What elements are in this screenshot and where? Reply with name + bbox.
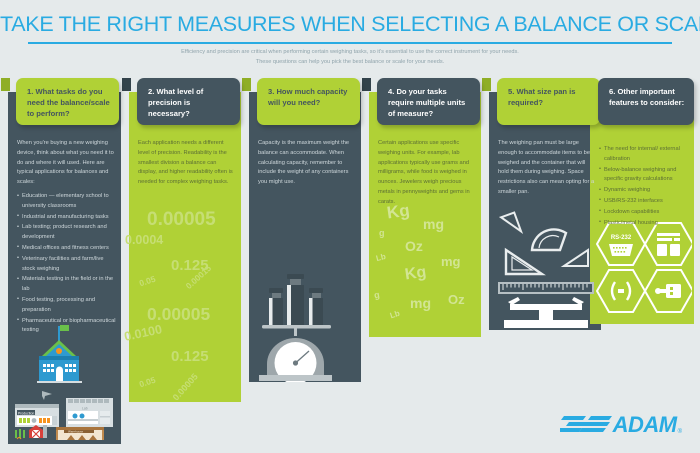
column-3-paragraph: Capacity is the maximum weight the balan… (258, 139, 356, 188)
column-3: 3. How much capacity will you need? Capa… (249, 92, 361, 382)
column-3-question: 3. How much capacity will you need? (268, 87, 351, 109)
column-3-illustration (257, 272, 355, 382)
list-item: Plastic/metal housing (599, 219, 691, 229)
header: TAKE THE RIGHT MEASURES WHEN SELECTING A… (0, 0, 700, 76)
watermark-unit: mg (423, 216, 444, 232)
column-4-question-card[interactable]: 4. Do your tasks require multiple units … (377, 78, 480, 125)
list-item: Education — elementary school to univers… (17, 192, 118, 212)
list-item: Medical offices and fitness centers (17, 244, 118, 254)
balance-pan-icon (504, 297, 588, 328)
column-5-card-tab (482, 78, 491, 91)
watermark-unit: g (379, 228, 385, 238)
column-5-illustration (494, 210, 598, 328)
buildings-illustration: Production Lab (12, 320, 117, 440)
column-2-question: 2. What level of precision is necessary? (148, 87, 231, 119)
set-square-icon (506, 250, 542, 274)
column-2-question-card[interactable]: 2. What level of precision is necessary? (137, 78, 240, 125)
column-6-question: 6. Other important features to consider: (609, 87, 685, 109)
subtitle-line-1: Efficiency and precision are critical wh… (90, 47, 610, 57)
column-1-question: 1. What tasks do you need the balance/sc… (27, 87, 110, 119)
list-item: Veterinary facilities and farm/live stoc… (17, 255, 118, 275)
list-item: Lab testing; product research and develo… (17, 223, 118, 243)
watermark-number: 0.00005 (147, 209, 216, 231)
infographic-page: TAKE THE RIGHT MEASURES WHEN SELECTING A… (0, 0, 700, 453)
illustration-label-production: Production (18, 411, 34, 415)
watermark-unit: Kg (404, 264, 428, 285)
list-item: Below-balance weighing and specific grav… (599, 166, 691, 186)
column-4-question: 4. Do your tasks require multiple units … (388, 87, 471, 119)
list-item: The need for internal/ external calibrat… (599, 145, 691, 165)
column-4-paragraph: Certain applications use specific weighi… (378, 139, 476, 208)
column-3-card-tab (242, 78, 251, 91)
watermark-unit: mg (441, 254, 461, 269)
column-2-card-tab (122, 78, 131, 91)
list-item: Lockdown capabilities (599, 208, 691, 218)
illustration-label-lab: Lab (82, 407, 88, 411)
list-item: Food testing, processing and preparation (17, 296, 118, 316)
column-6-question-card[interactable]: 6. Other important features to consider: (598, 78, 694, 125)
small-set-square-icon (501, 213, 521, 237)
column-1-card-tab (1, 78, 10, 91)
watermark-number: 0.0004 (125, 233, 163, 247)
column-1-bullet-list: Education — elementary school to univers… (17, 192, 118, 337)
column-5: 5. What size pan is required? The weighi… (489, 92, 601, 330)
list-item: USB/RS-232 interfaces (599, 197, 691, 207)
small-triangle-icon (564, 250, 588, 266)
farm-icon (15, 425, 47, 439)
rs232-label: RS-232 (611, 235, 632, 241)
feature-hex-icons: RS-232 (596, 222, 692, 314)
list-item: Industrial and manufacturing tasks (17, 213, 118, 223)
column-4: 4. Do your tasks require multiple units … (369, 92, 481, 337)
ruler-icon (498, 282, 594, 294)
protractor-icon (532, 229, 566, 250)
watermark-unit: Oz (448, 292, 465, 307)
pan-and-measuring-tools-icon (494, 210, 598, 328)
column-6: 6. Other important features to consider:… (590, 92, 694, 324)
usb-icon[interactable] (645, 270, 692, 312)
column-1-question-card[interactable]: 1. What tasks do you need the balance/sc… (16, 78, 119, 125)
watermark-unit: Oz (405, 238, 423, 254)
illustration-label-warehouse: Warehouse (68, 430, 84, 434)
column-5-question-card[interactable]: 5. What size pan is required? (497, 78, 600, 125)
watermark-number: 0.125 (171, 348, 209, 365)
adam-logo: ADAM ® (560, 413, 682, 435)
column-1-paragraph: When you're buying a new weighing device… (17, 139, 116, 188)
page-subtitle: Efficiency and precision are critical wh… (90, 47, 610, 68)
watermark-unit: mg (410, 295, 431, 311)
column-5-question: 5. What size pan is required? (508, 87, 591, 109)
list-item: Dynamic weighing (599, 186, 691, 196)
registered-trademark: ® (678, 429, 682, 435)
kitchen-scale-icon (257, 272, 355, 382)
column-2: 2. What level of precision is necessary?… (129, 92, 241, 402)
page-title: TAKE THE RIGHT MEASURES WHEN SELECTING A… (0, 12, 700, 37)
ae-logo-mark (560, 413, 612, 435)
column-2-paragraph: Each application needs a different level… (138, 139, 236, 188)
column-6-bullet-list: The need for internal/ external calibrat… (599, 145, 691, 229)
column-4-card-tab (362, 78, 371, 91)
column-1: 1. What tasks do you need the balance/sc… (8, 92, 121, 444)
column-1-illustration: Production Lab (12, 320, 117, 440)
lockdown-icon[interactable] (597, 270, 645, 312)
subtitle-line-2: These questions can help you pick the be… (90, 57, 610, 67)
title-divider (28, 42, 672, 44)
adam-logo-word: ADAM (613, 415, 677, 435)
list-item: Materials testing in the field or in the… (17, 275, 118, 295)
column-5-paragraph: The weighing pan must be large enough to… (498, 139, 596, 198)
column-6-hex-icons: RS-232 (596, 222, 692, 314)
column-3-question-card[interactable]: 3. How much capacity will you need? (257, 78, 360, 125)
